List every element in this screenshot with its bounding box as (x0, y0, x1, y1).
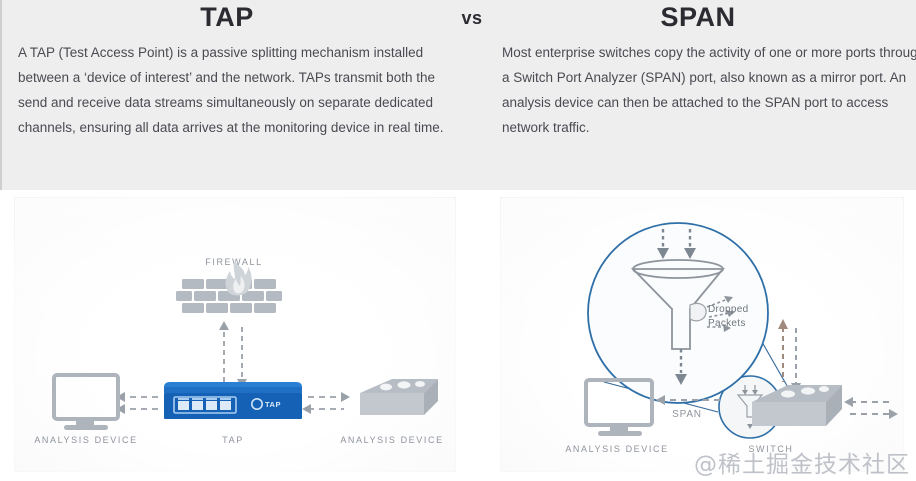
tap-label: TAP (178, 435, 288, 445)
tap-diagram-stage: FIREWALL (14, 197, 456, 472)
tap-device-icon: TAP (164, 382, 302, 419)
dropped-packets-label-line1: Dropped (708, 304, 778, 315)
span-diagram-stage: Dropped Packets SPAN ANALYSIS DEVICE SWI… (500, 197, 904, 472)
firewall-tap-link (224, 327, 242, 382)
screenshot-root: TAP vs SPAN A TAP (Test Access Point) is… (0, 0, 916, 481)
analysis-device-right-label: ANALYSIS DEVICE (332, 435, 452, 445)
tap-column-description: A TAP (Test Access Point) is a passive s… (18, 40, 450, 140)
switch-uplink-arrowheads (778, 319, 801, 393)
analysis-device-label: ANALYSIS DEVICE (552, 444, 682, 454)
tap-to-analysis-right-link (308, 397, 344, 409)
span-column-title: SPAN (598, 2, 798, 33)
switch-network-arrowheads (844, 397, 898, 419)
analysis-device-monitor-icon (54, 375, 118, 430)
switch-network-link (850, 402, 892, 414)
tap-to-analysis-left-link (122, 397, 158, 409)
tap-column-title: TAP (142, 2, 312, 33)
comparison-band: TAP vs SPAN A TAP (Test Access Point) is… (0, 0, 916, 190)
span-diagram-panel: Dropped Packets SPAN ANALYSIS DEVICE SWI… (500, 197, 904, 472)
span-column-description: Most enterprise switches copy the activi… (502, 40, 916, 140)
tap-to-analysis-right-arrowheads (302, 392, 350, 414)
analysis-device-left-label: ANALYSIS DEVICE (26, 435, 146, 445)
span-label: SPAN (652, 409, 722, 420)
tap-diagram-panel: FIREWALL (14, 197, 456, 472)
dropped-packets-label-line2: Packets (708, 318, 778, 329)
tap-device-brand-text: TAP (265, 400, 281, 409)
firewall-icon (176, 261, 282, 313)
analysis-device-appliance-icon (360, 379, 438, 415)
versus-separator: vs (442, 8, 502, 29)
site-watermark: @稀土掘金技术社区 (694, 445, 910, 479)
